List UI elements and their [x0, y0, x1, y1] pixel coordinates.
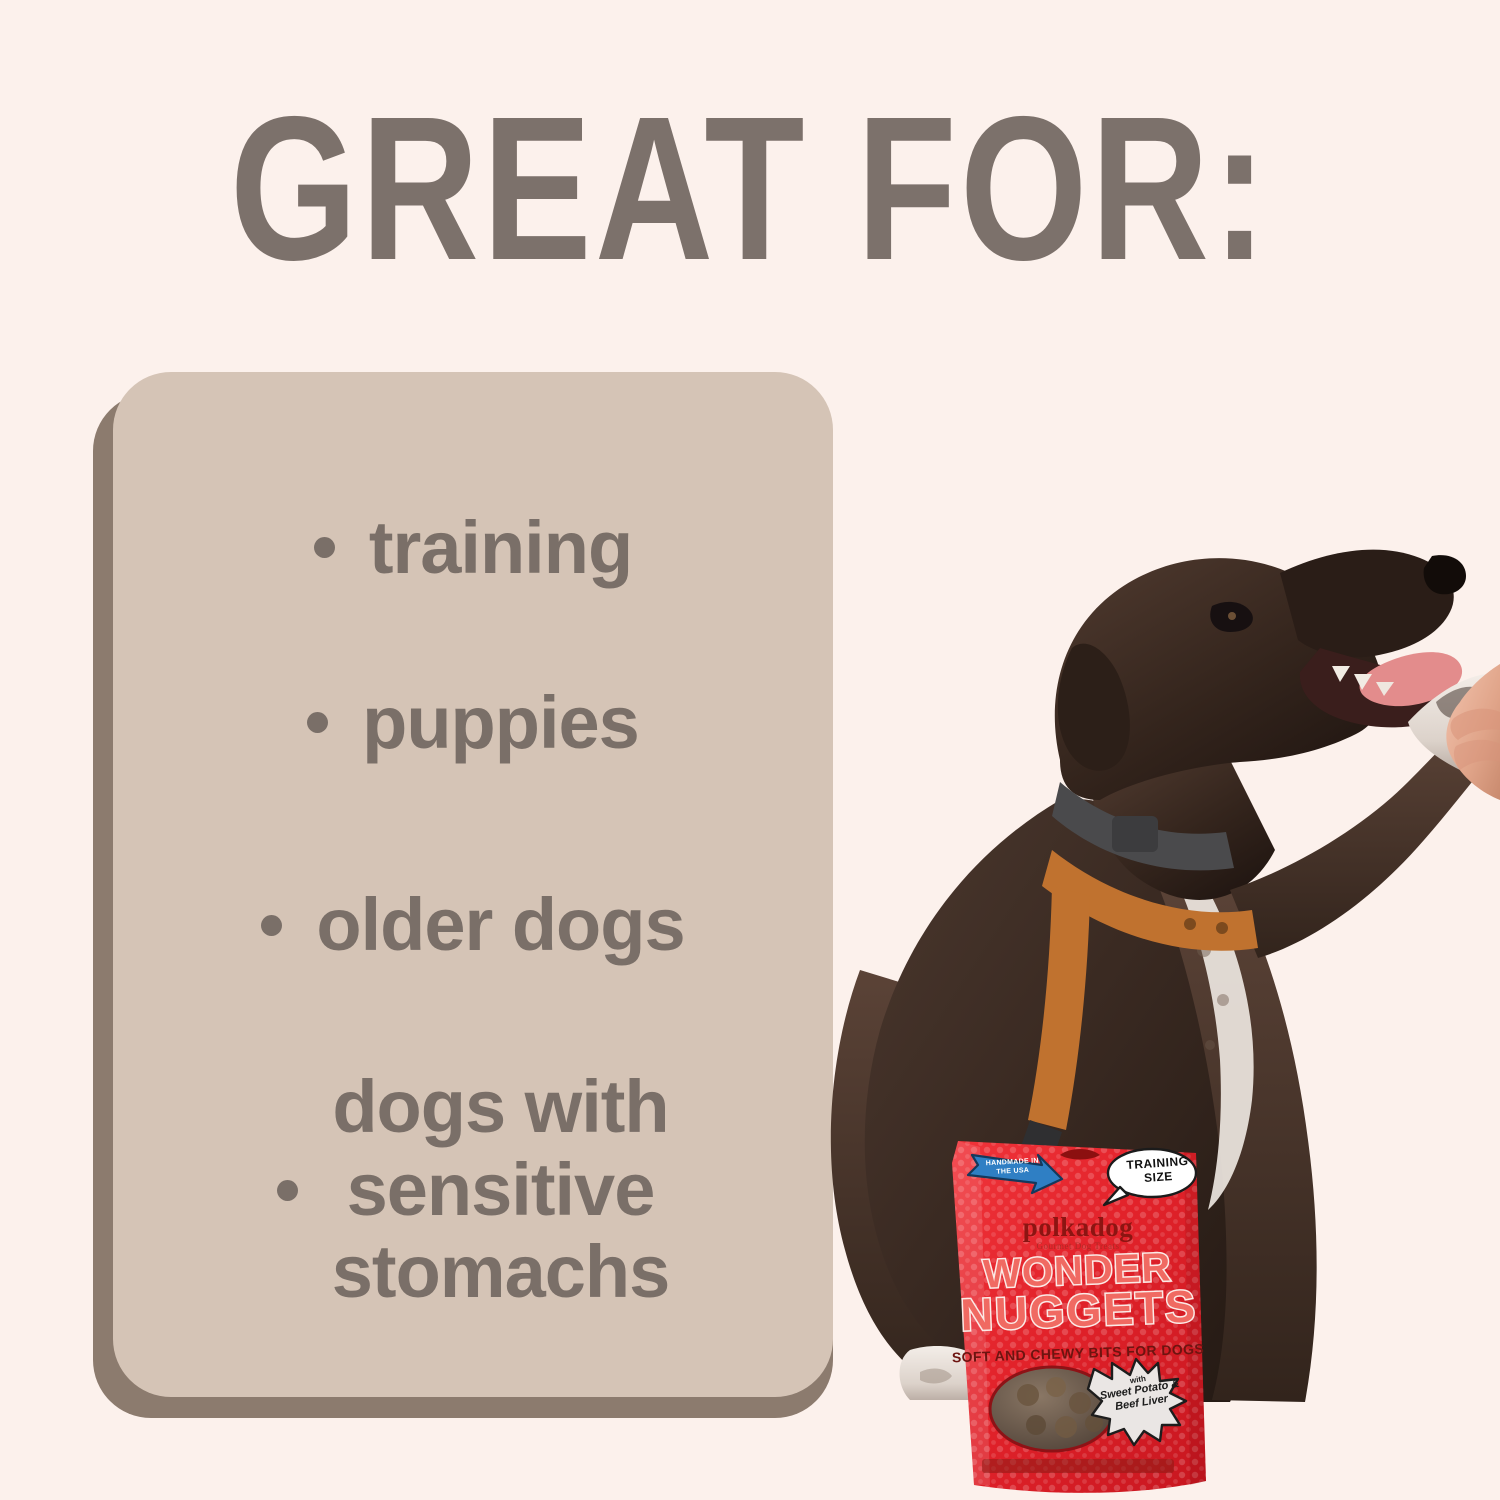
- list-item: training: [113, 460, 833, 635]
- bullet-dot-icon: [261, 915, 282, 936]
- list-item: older dogs: [113, 810, 833, 1040]
- list-item-label: puppies: [362, 686, 639, 760]
- marketing-image: GREAT FOR: training puppies older dogs d…: [0, 0, 1500, 1500]
- list-item: puppies: [113, 635, 833, 810]
- list-item-label-line1: dogs with: [332, 1065, 668, 1148]
- list-item-label-line3: stomachs: [332, 1230, 669, 1313]
- list-item-label: training: [369, 511, 632, 585]
- page-title: GREAT FOR:: [150, 86, 1350, 291]
- list-item-label-line2: sensitive: [347, 1148, 655, 1231]
- bullet-dot-icon: [277, 1180, 298, 1201]
- bullet-dot-icon: [307, 712, 328, 733]
- bullet-dot-icon: [314, 537, 335, 558]
- list-item: dogs with sensitive stomachs: [113, 1040, 833, 1340]
- benefits-list: training puppies older dogs dogs with se…: [113, 372, 833, 1397]
- list-item-label: older dogs: [316, 888, 684, 962]
- product-package: HANDMADE IN THE USA TRAINING SIZE polkad…: [944, 1133, 1212, 1500]
- list-item-label-multiline: dogs with sensitive stomachs: [332, 1066, 669, 1315]
